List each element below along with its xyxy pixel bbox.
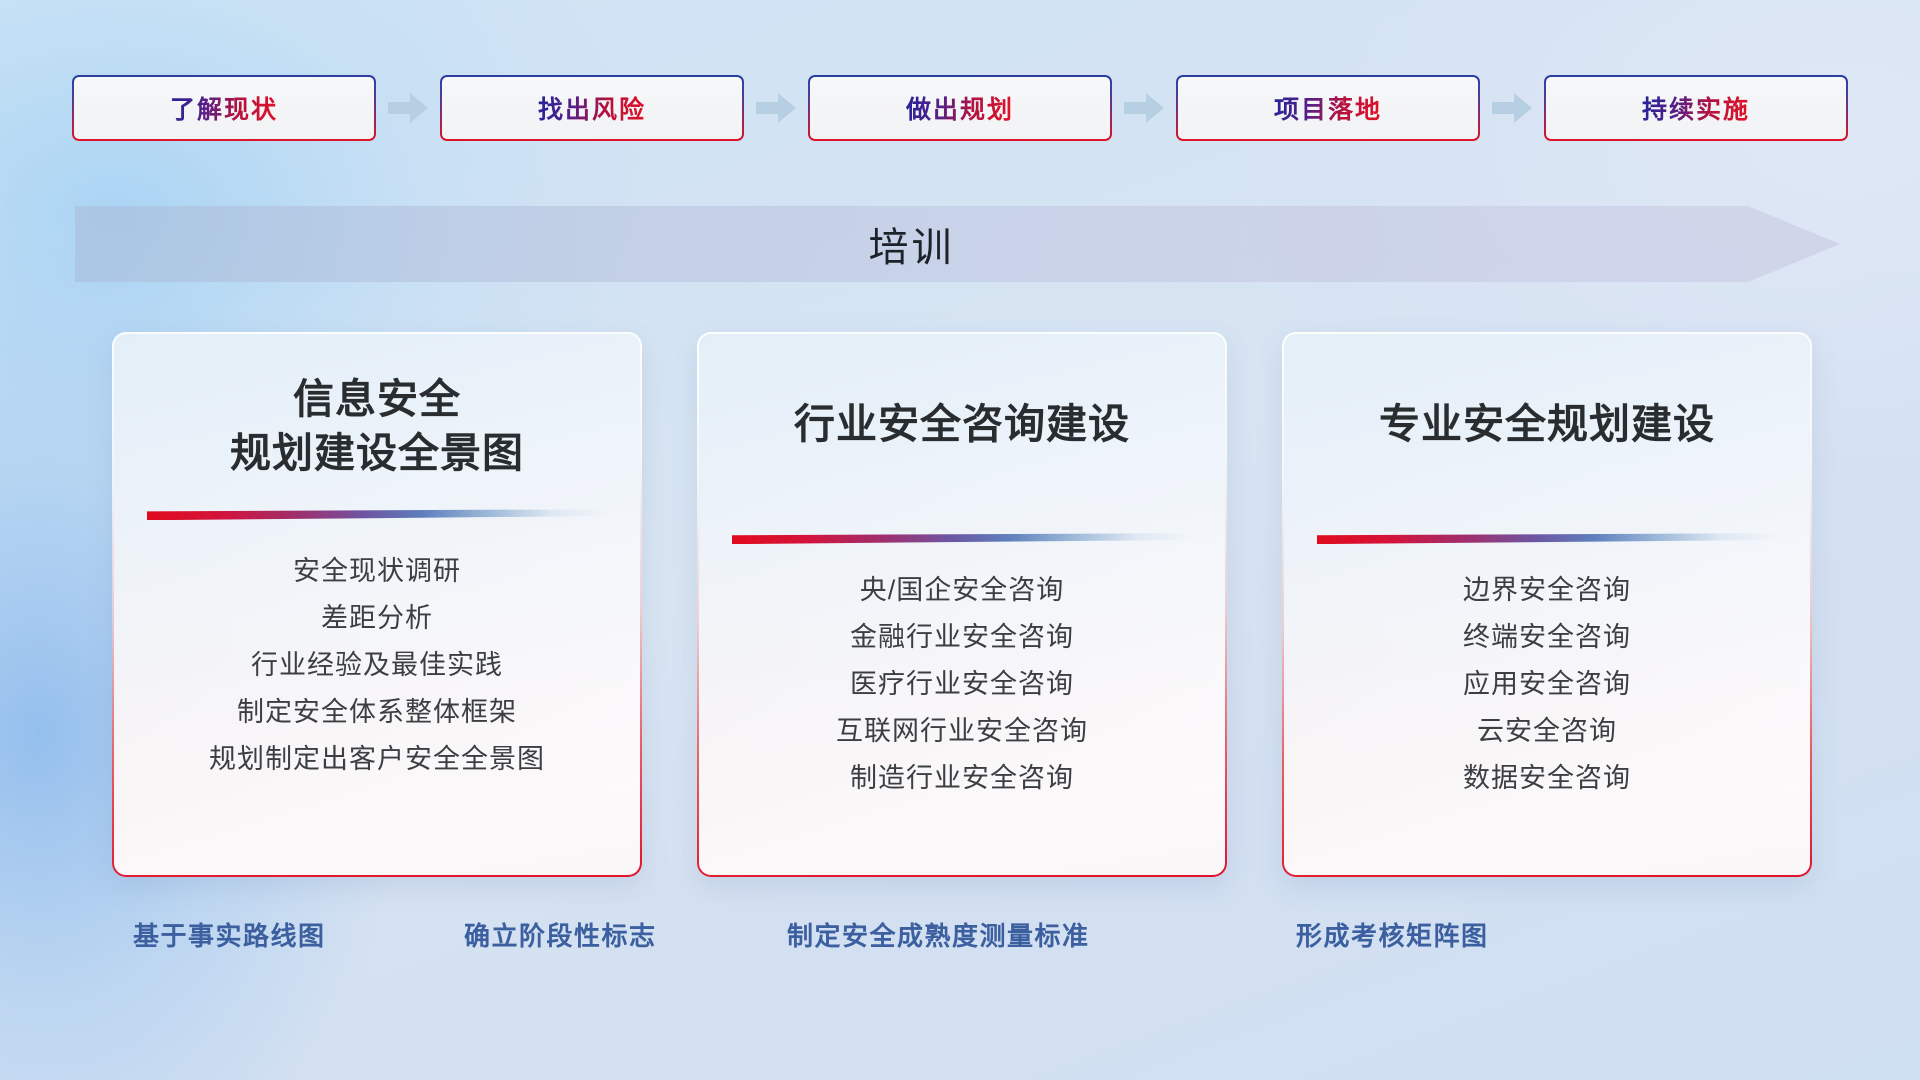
footnote-row: 基于事实路线图 确立阶段性标志 制定安全成熟度测量标准 形成考核矩阵图 <box>0 916 1920 964</box>
list-item: 边界安全咨询 <box>1284 567 1810 614</box>
step-box-4[interactable]: 项目落地 <box>1176 75 1480 141</box>
card-industry-security-consulting[interactable]: 行业安全咨询建设 央/国企安全咨询 金融行业安全咨询 医疗行业安全咨询 互联网行… <box>697 332 1227 877</box>
step-label: 找出风险 <box>538 90 646 126</box>
card-item-list: 安全现状调研 差距分析 行业经验及最佳实践 制定安全体系整体框架 规划制定出客户… <box>114 548 640 783</box>
list-item: 央/国企安全咨询 <box>699 567 1225 614</box>
card-inner: 行业安全咨询建设 央/国企安全咨询 金融行业安全咨询 医疗行业安全咨询 互联网行… <box>699 334 1225 875</box>
list-item: 终端安全咨询 <box>1284 614 1810 661</box>
banner-title: 培训 <box>75 206 1840 282</box>
card-divider <box>699 533 1225 544</box>
step-box-1[interactable]: 了解现状 <box>72 75 376 141</box>
step-label: 项目落地 <box>1274 90 1382 126</box>
card-title: 行业安全咨询建设 <box>794 334 1130 451</box>
card-item-list: 央/国企安全咨询 金融行业安全咨询 医疗行业安全咨询 互联网行业安全咨询 制造行… <box>699 567 1225 802</box>
step-box-3[interactable]: 做出规划 <box>808 75 1112 141</box>
list-item: 金融行业安全咨询 <box>699 614 1225 661</box>
arrow-right-icon <box>1112 88 1176 128</box>
list-item: 数据安全咨询 <box>1284 755 1810 802</box>
card-row: 信息安全 规划建设全景图 安全现状调研 差距分析 行业经验及最佳实践 制定安全体… <box>112 332 1812 882</box>
slide-root: 了解现状 找出风险 做出规划 项目落地 <box>0 0 1920 1080</box>
step-label: 做出规划 <box>906 90 1014 126</box>
list-item: 差距分析 <box>114 595 640 642</box>
list-item: 互联网行业安全咨询 <box>699 708 1225 755</box>
card-title: 信息安全 规划建设全景图 <box>230 334 524 480</box>
list-item: 安全现状调研 <box>114 548 640 595</box>
card-title: 专业安全规划建设 <box>1379 334 1715 451</box>
card-item-list: 边界安全咨询 终端安全咨询 应用安全咨询 云安全咨询 数据安全咨询 <box>1284 567 1810 802</box>
arrow-right-icon <box>744 88 808 128</box>
arrow-right-icon <box>1480 88 1544 128</box>
process-step-row: 了解现状 找出风险 做出规划 项目落地 <box>72 74 1848 142</box>
list-item: 制定安全体系整体框架 <box>114 689 640 736</box>
footnote-label: 基于事实路线图 <box>133 916 326 953</box>
footnote-label: 制定安全成熟度测量标准 <box>787 916 1090 953</box>
card-info-security-blueprint[interactable]: 信息安全 规划建设全景图 安全现状调研 差距分析 行业经验及最佳实践 制定安全体… <box>112 332 642 877</box>
arrow-right-icon <box>376 88 440 128</box>
list-item: 规划制定出客户安全全景图 <box>114 736 640 783</box>
card-professional-security-planning[interactable]: 专业安全规划建设 边界安全咨询 终端安全咨询 应用安全咨询 云安全咨询 数据安全… <box>1282 332 1812 877</box>
step-label: 持续实施 <box>1642 90 1750 126</box>
list-item: 云安全咨询 <box>1284 708 1810 755</box>
step-box-2[interactable]: 找出风险 <box>440 75 744 141</box>
footnote-label: 形成考核矩阵图 <box>1296 916 1489 953</box>
training-banner: 培训 <box>75 206 1840 282</box>
card-divider <box>1284 533 1810 544</box>
card-inner: 专业安全规划建设 边界安全咨询 终端安全咨询 应用安全咨询 云安全咨询 数据安全… <box>1284 334 1810 875</box>
list-item: 行业经验及最佳实践 <box>114 642 640 689</box>
list-item: 制造行业安全咨询 <box>699 755 1225 802</box>
step-box-5[interactable]: 持续实施 <box>1544 75 1848 141</box>
card-divider <box>114 509 640 520</box>
card-inner: 信息安全 规划建设全景图 安全现状调研 差距分析 行业经验及最佳实践 制定安全体… <box>114 334 640 875</box>
list-item: 应用安全咨询 <box>1284 661 1810 708</box>
footnote-label: 确立阶段性标志 <box>464 916 657 953</box>
list-item: 医疗行业安全咨询 <box>699 661 1225 708</box>
step-label: 了解现状 <box>170 90 278 126</box>
